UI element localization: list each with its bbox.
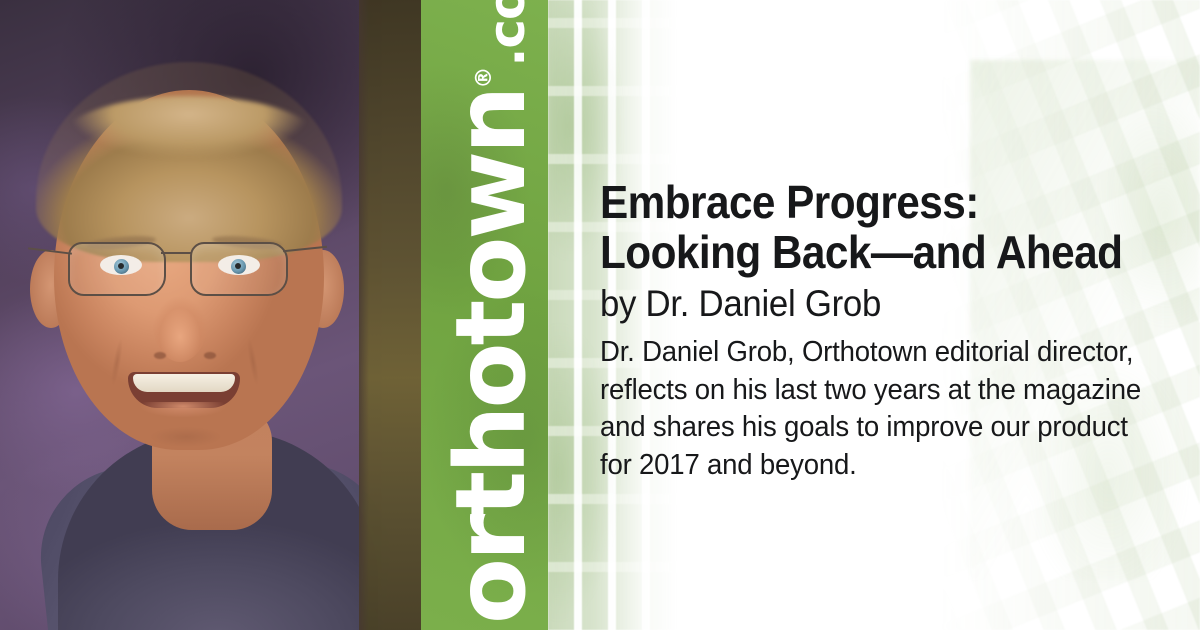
hairline [58,96,320,188]
logo-word: orthotown [435,89,547,624]
article-deck: Dr. Daniel Grob, Orthotown editorial dir… [600,334,1151,486]
author-portrait-subject [0,0,421,630]
lower-lip [130,402,236,424]
registered-trademark-icon: ® [472,67,497,89]
orthotown-wordmark: orthotown®.com [443,64,539,624]
author-photo [0,0,421,630]
article-text-stack: Embrace Progress: Looking Back—and Ahead… [600,178,1180,485]
article-byline: by Dr. Daniel Grob [600,283,1145,325]
orthotown-logo-banner[interactable]: orthotown®.com 10 years a Farran Media i… [421,0,548,630]
article-content-panel: Embrace Progress: Looking Back—and Ahead… [548,0,1200,630]
teeth [133,374,235,392]
chin-shadow [140,424,232,450]
photo-olive-edge-strip [359,0,421,630]
nose [152,278,208,362]
article-promo-banner: orthotown®.com 10 years a Farran Media i… [0,0,1200,630]
eyeglasses-lens-right [190,242,288,296]
logo-domain-suffix: .com [478,0,536,67]
eyeglasses-lens-left [68,242,166,296]
nostril-right [204,352,216,359]
eyeglasses-bridge [161,252,191,254]
article-title: Embrace Progress: Looking Back—and Ahead [600,178,1134,277]
nostril-left [154,352,166,359]
